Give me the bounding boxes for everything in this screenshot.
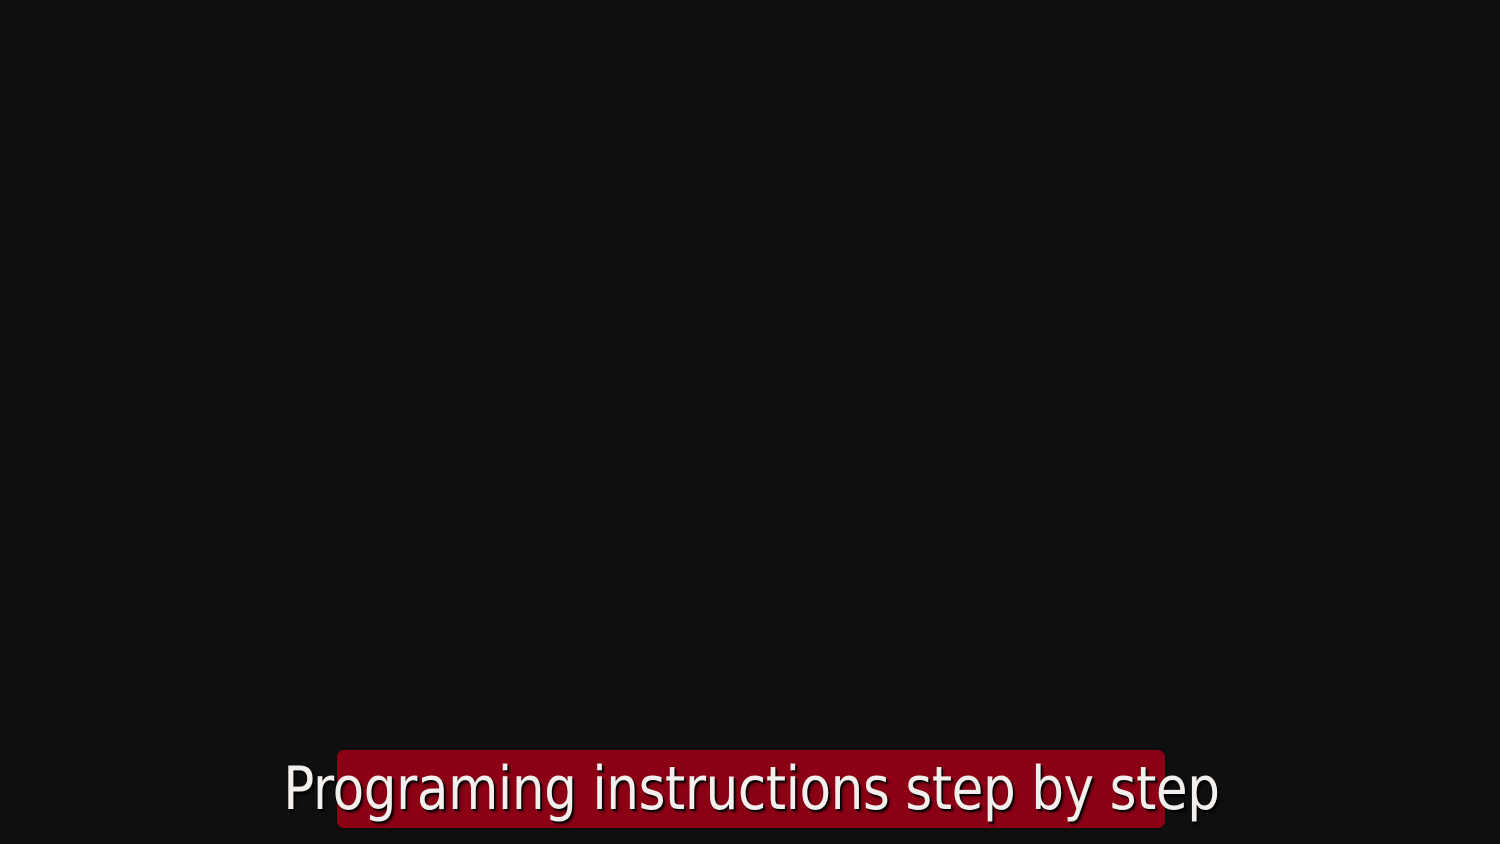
caption-banner: Programing instructions step by step [337,750,1165,828]
screen-root: Programing instructions step by step [0,0,1500,844]
caption-text: Programing instructions step by step [283,750,1219,828]
video-surface[interactable] [0,0,1500,844]
